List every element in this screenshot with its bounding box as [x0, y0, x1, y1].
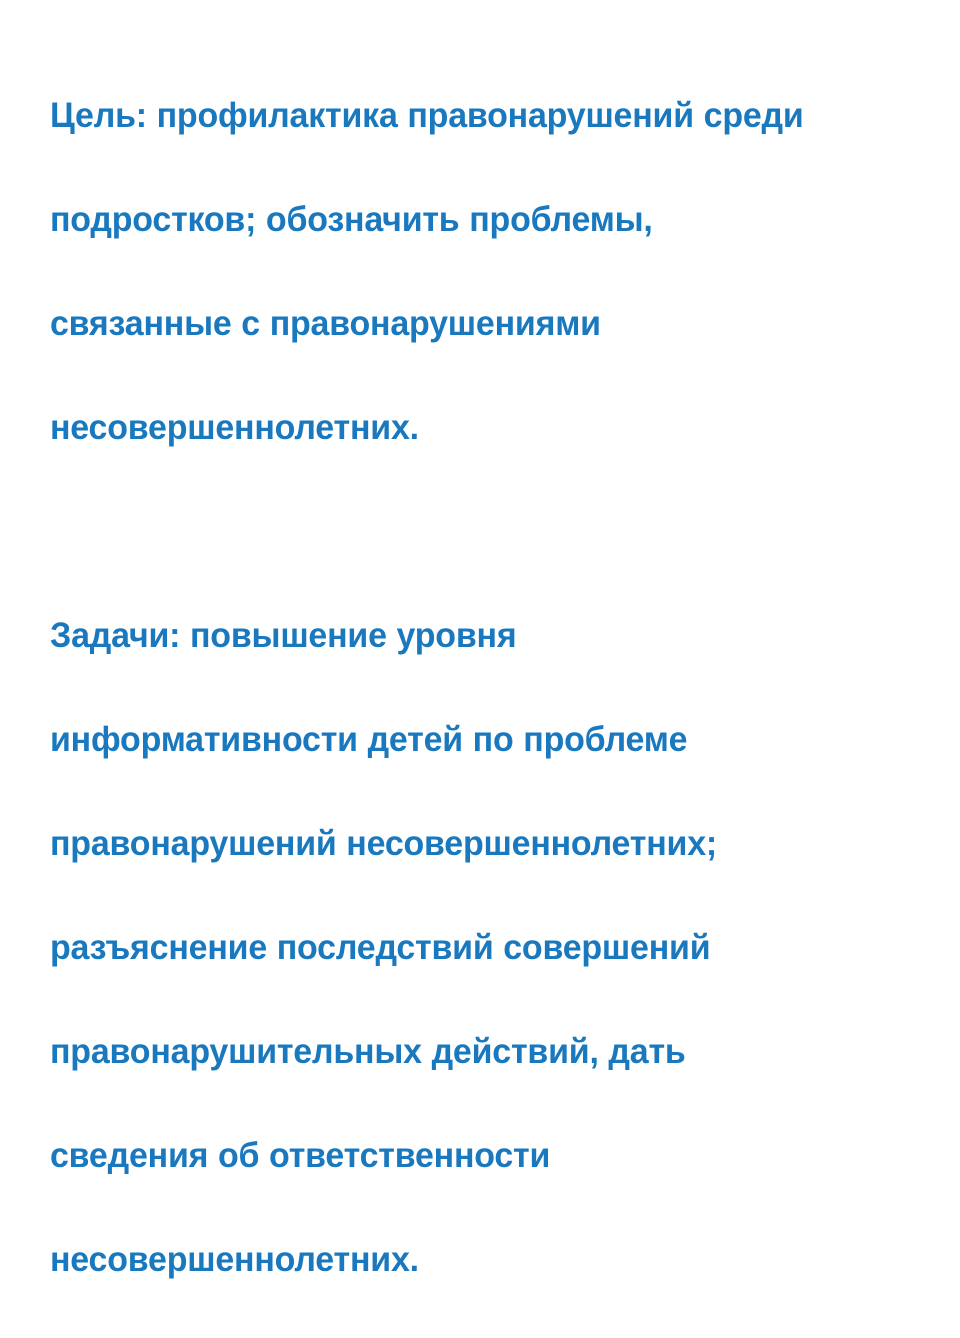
- tasks-line-7: несовершеннолетних.: [50, 1234, 894, 1286]
- goal-line-4: несовершеннолетних.: [50, 402, 894, 454]
- goal-line-2: подростков; обозначить проблемы,: [50, 194, 894, 246]
- paragraph-goal: Цель: профилактика правонарушений среди …: [50, 38, 894, 506]
- paragraph-tasks: Задачи: повышение уровня информативности…: [50, 558, 894, 1338]
- slide-canvas: Цель: профилактика правонарушений среди …: [0, 0, 960, 720]
- tasks-line-6: сведения об ответственности: [50, 1130, 894, 1182]
- goal-line-1: Цель: профилактика правонарушений среди: [50, 90, 894, 142]
- tasks-line-2: информативности детей по проблеме: [50, 714, 894, 766]
- paragraph-spacer: [50, 506, 920, 558]
- slide-text-content: Цель: профилактика правонарушений среди …: [50, 38, 920, 1338]
- tasks-line-1: Задачи: повышение уровня: [50, 610, 894, 662]
- tasks-line-5: правонарушительных действий, дать: [50, 1026, 894, 1078]
- tasks-line-3: правонарушений несовершеннолетних;: [50, 818, 894, 870]
- tasks-line-4: разъяснение последствий совершений: [50, 922, 894, 974]
- goal-line-3: связанные с правонарушениями: [50, 298, 894, 350]
